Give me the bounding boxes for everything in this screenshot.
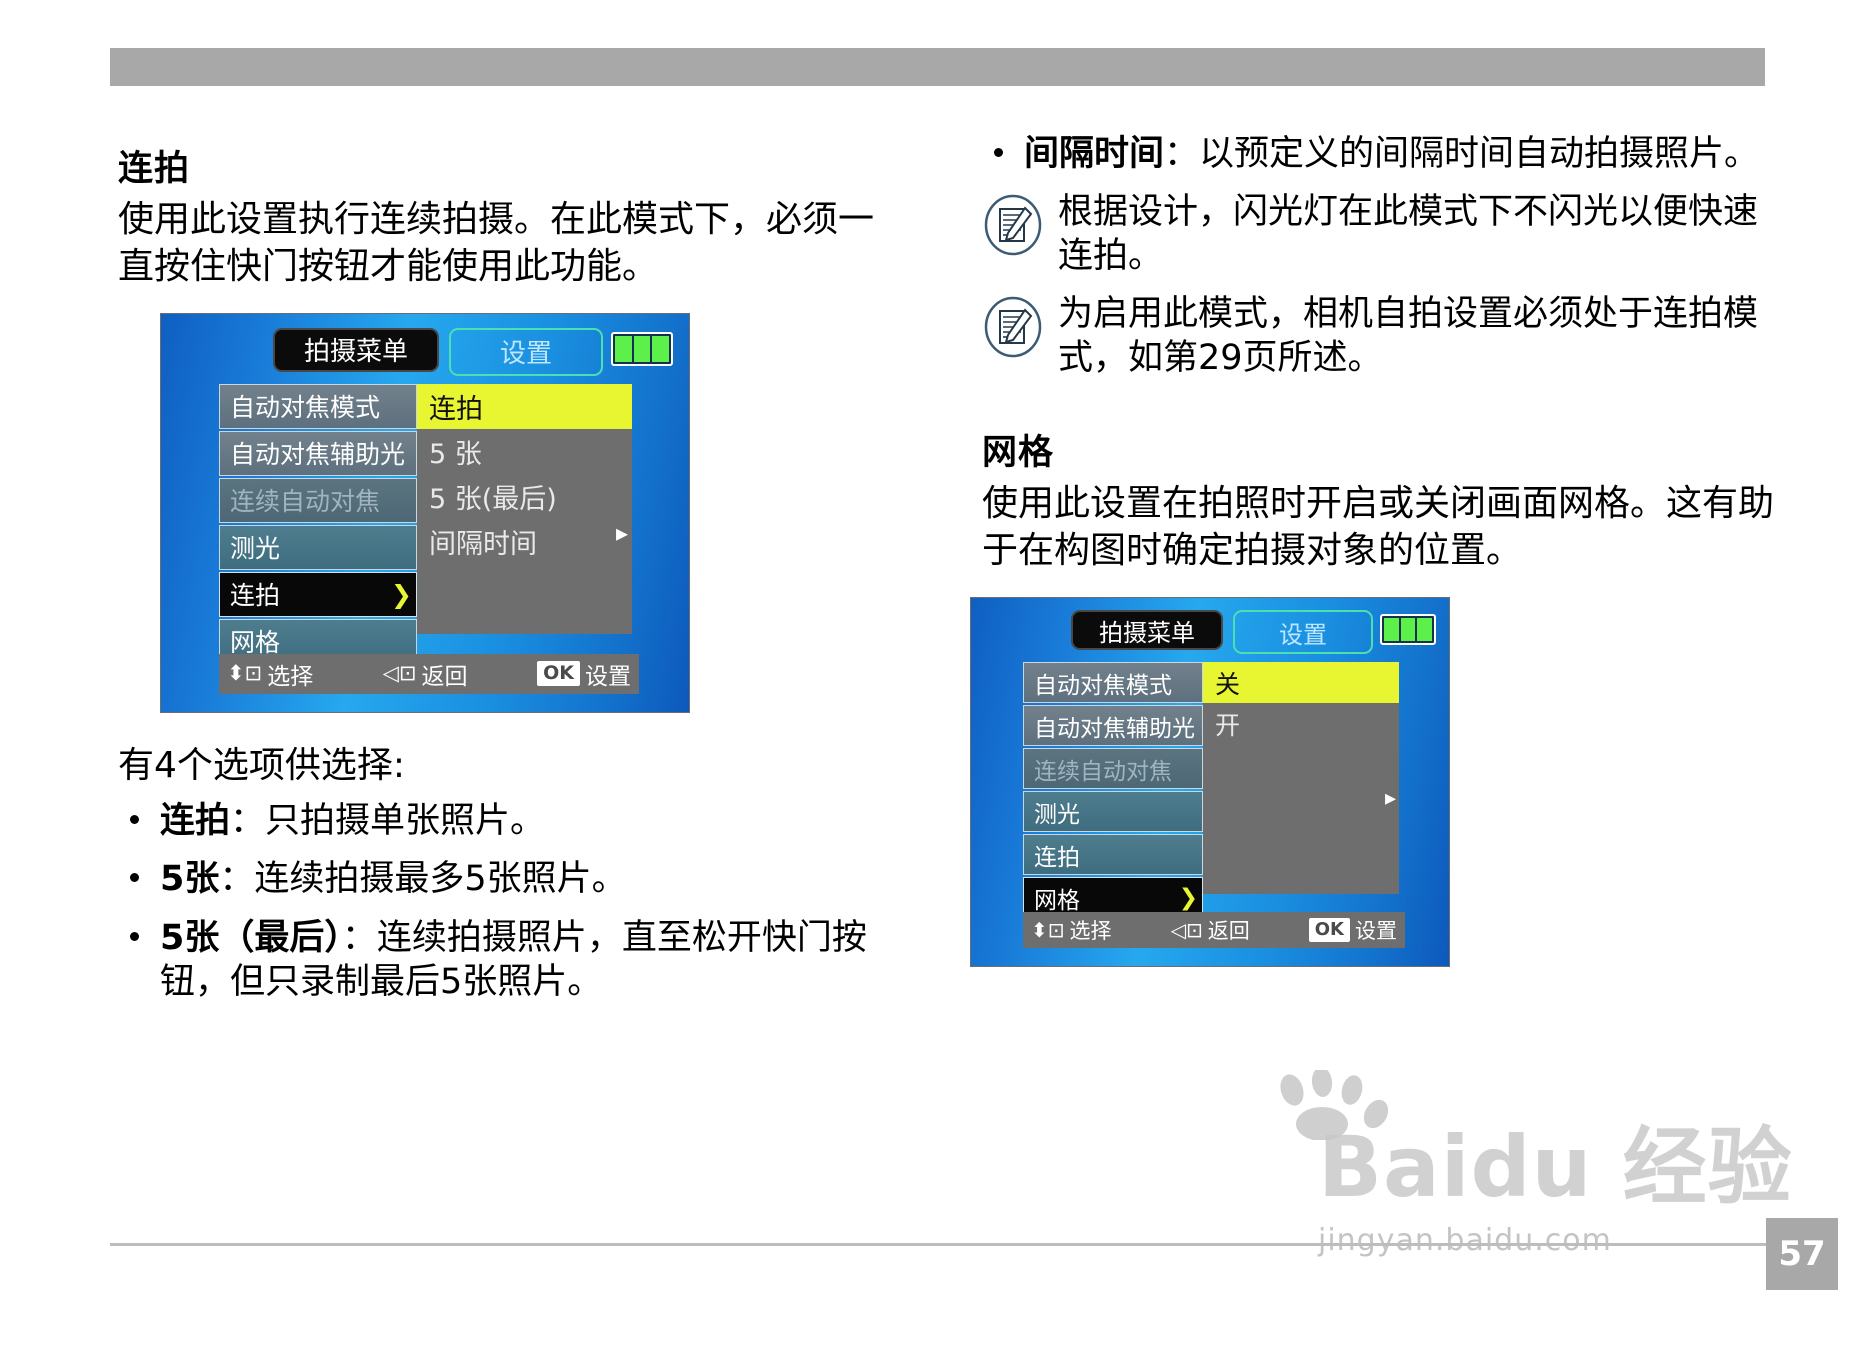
lcd-options-list: 连拍5 张5 张(最后)间隔时间 xyxy=(417,384,632,634)
lcd-option-item[interactable]: 5 张 xyxy=(417,429,632,474)
options-scroll-arrow-icon: ▸ xyxy=(616,519,628,547)
lcd-menu-item-label: 测光 xyxy=(1024,795,1080,829)
left-column: 连拍 使用此设置执行连续拍摄。在此模式下，必须一直按住快门按钮才能使用此功能。 … xyxy=(118,140,908,1018)
watermark: Baidu 经验 jingyan.baidu.com xyxy=(1318,1100,1798,1280)
options-intro: 有4个选项供选择: xyxy=(118,743,908,790)
watermark-main-text: Baidu 经验 xyxy=(1318,1100,1798,1221)
lcd-menu-item-label: 自动对焦模式 xyxy=(1024,666,1172,700)
list-item: 5张：连续拍摄最多5张照片。 xyxy=(118,857,908,901)
note-text: 根据设计，闪光灯在此模式下不闪光以便快速连拍。 xyxy=(1058,190,1782,278)
lcd-tab-setup-label: 设置 xyxy=(500,333,552,370)
options-scroll-arrow-icon: ▸ xyxy=(1385,786,1396,811)
lcd-option-item-label: 5 张(最后) xyxy=(417,477,557,516)
baidu-paw-icon xyxy=(1270,1070,1390,1140)
lcd-footer-hint-label: 选择 xyxy=(267,657,313,691)
page-number: 57 xyxy=(1766,1218,1838,1290)
lcd-footer-hint-label: 返回 xyxy=(1208,915,1250,945)
lcd-menu-item[interactable]: 测光 xyxy=(1023,791,1203,832)
lcd-tab-shooting-menu-label: 拍摄菜单 xyxy=(304,331,408,368)
ok-key-icon: OK xyxy=(1309,918,1350,942)
page-title-burst: 连拍 xyxy=(118,140,908,191)
bullet-dot-icon xyxy=(130,932,139,941)
lcd-footer-hint: ⬍⊡选择 xyxy=(1031,915,1112,945)
burst-options-list: 连拍：只拍摄单张照片。 5张：连续拍摄最多5张照片。 5张（最后）：连续拍摄照片… xyxy=(118,799,908,1003)
note-icon xyxy=(982,194,1044,256)
lcd-option-item-label: 间隔时间 xyxy=(417,522,537,561)
bullet-dot-icon xyxy=(130,873,139,882)
grid-description: 使用此设置在拍照时开启或关闭画面网格。这有助于在构图时确定拍摄对象的位置。 xyxy=(982,481,1782,575)
option-sep: ： xyxy=(230,801,265,841)
option-desc: 以预定义的间隔时间自动拍摄照片。 xyxy=(1199,134,1759,174)
ok-key-icon: OK xyxy=(537,661,580,686)
watermark-sub-text: jingyan.baidu.com xyxy=(1318,1223,1798,1258)
lcd-footer-hint: ◁⊡返回 xyxy=(1171,915,1250,945)
burst-description: 使用此设置执行连续拍摄。在此模式下，必须一直按住快门按钮才能使用此功能。 xyxy=(118,197,908,291)
lcd-screenshot-burst: 拍摄菜单 设置 自动对焦模式自动对焦辅助光连续自动对焦测光连拍❯网格 连拍5 张… xyxy=(160,313,690,713)
option-sep: ： xyxy=(219,859,254,899)
option-desc: 连续拍摄最多5张照片。 xyxy=(254,859,626,899)
lcd-menu-item-label: 自动对焦辅助光 xyxy=(220,435,405,471)
left-key-icon: ◁⊡ xyxy=(1171,920,1203,940)
lcd-footer-hint-label: 设置 xyxy=(585,657,631,691)
lcd-menu-item[interactable]: 连拍❯ xyxy=(219,572,417,617)
lcd-tab-shooting-menu[interactable]: 拍摄菜单 xyxy=(1071,610,1223,650)
selection-caret-icon: ❯ xyxy=(381,580,416,609)
option-term: 5张（最后） xyxy=(160,918,342,958)
lcd-menu-item-label: 网格 xyxy=(1024,881,1080,915)
lcd-footer-hint: ◁⊡返回 xyxy=(383,657,468,691)
lcd-menu-list: 自动对焦模式自动对焦辅助光连续自动对焦测光连拍网格❯ xyxy=(1023,662,1203,920)
bullet-dot-icon xyxy=(994,148,1003,157)
lcd-option-item[interactable]: 开 xyxy=(1203,703,1399,744)
battery-bar xyxy=(652,336,669,362)
battery-icon xyxy=(1380,614,1436,645)
lcd-menu-item-label: 连续自动对焦 xyxy=(1024,752,1172,786)
selection-caret-icon: ❯ xyxy=(1169,885,1202,911)
lcd-menu-item[interactable]: 连续自动对焦 xyxy=(1023,748,1203,789)
option-term: 间隔时间 xyxy=(1024,134,1164,174)
lcd-tab-setup-label: 设置 xyxy=(1279,615,1327,650)
right-column: 间隔时间：以预定义的间隔时间自动拍摄照片。 根据设计，闪光灯在此模式下不闪光以便… xyxy=(982,128,1782,967)
note-icon xyxy=(982,296,1044,358)
footer-divider xyxy=(110,1243,1770,1246)
lcd-tab-setup[interactable]: 设置 xyxy=(449,328,603,376)
battery-bar xyxy=(1384,618,1399,641)
list-item: 间隔时间：以预定义的间隔时间自动拍摄照片。 xyxy=(982,132,1782,176)
lcd-footer-hints: ⬍⊡选择◁⊡返回OK设置 xyxy=(1023,912,1405,948)
lcd-menu-item[interactable]: 测光 xyxy=(219,525,417,570)
lcd-footer-hint: OK设置 xyxy=(1309,915,1397,945)
lcd-footer-hint: OK设置 xyxy=(537,657,631,691)
battery-bar xyxy=(615,336,632,362)
lcd-menu-item-label: 连拍 xyxy=(1024,838,1080,872)
lcd-option-item-label: 5 张 xyxy=(417,432,482,471)
lcd-menu-item[interactable]: 连续自动对焦 xyxy=(219,478,417,523)
up-down-key-icon: ⬍⊡ xyxy=(227,663,262,684)
list-item: 5张（最后）：连续拍摄照片，直至松开快门按钮，但只录制最后5张照片。 xyxy=(118,916,908,1004)
list-item: 连拍：只拍摄单张照片。 xyxy=(118,799,908,843)
lcd-option-item[interactable]: 间隔时间 xyxy=(417,519,632,564)
lcd-footer-hint: ⬍⊡选择 xyxy=(227,657,313,691)
lcd-menu-item[interactable]: 自动对焦模式 xyxy=(219,384,417,429)
lcd-menu-item-label: 自动对焦模式 xyxy=(220,388,380,424)
lcd-footer-hint-label: 设置 xyxy=(1355,915,1397,945)
battery-bar xyxy=(1417,618,1432,641)
note-1: 根据设计，闪光灯在此模式下不闪光以便快速连拍。 xyxy=(982,190,1782,278)
battery-bar xyxy=(1401,618,1416,641)
option-desc: 只拍摄单张照片。 xyxy=(265,801,545,841)
up-down-key-icon: ⬍⊡ xyxy=(1031,920,1065,940)
lcd-option-item[interactable]: 5 张(最后) xyxy=(417,474,632,519)
lcd-option-item[interactable]: 连拍 xyxy=(417,384,632,429)
lcd-menu-item-label: 连拍 xyxy=(220,576,280,612)
interval-bullet-list: 间隔时间：以预定义的间隔时间自动拍摄照片。 xyxy=(982,132,1782,176)
lcd-screenshot-grid: 拍摄菜单 设置 自动对焦模式自动对焦辅助光连续自动对焦测光连拍网格❯ 关开 ▸ … xyxy=(970,597,1450,967)
lcd-menu-item[interactable]: 自动对焦辅助光 xyxy=(219,431,417,476)
lcd-menu-item-label: 连续自动对焦 xyxy=(220,482,380,518)
note-text: 为启用此模式，相机自拍设置必须处于连拍模式，如第29页所述。 xyxy=(1058,292,1782,380)
battery-bar xyxy=(634,336,651,362)
lcd-tab-shooting-menu[interactable]: 拍摄菜单 xyxy=(273,328,439,372)
bullet-dot-icon xyxy=(130,815,139,824)
lcd-option-item-label: 连拍 xyxy=(417,387,483,426)
lcd-menu-item[interactable]: 自动对焦辅助光 xyxy=(1023,705,1203,746)
lcd-menu-item[interactable]: 自动对焦模式 xyxy=(1023,662,1203,703)
lcd-menu-list: 自动对焦模式自动对焦辅助光连续自动对焦测光连拍❯网格 xyxy=(219,384,417,666)
manual-page: 连拍 使用此设置执行连续拍摄。在此模式下，必须一直按住快门按钮才能使用此功能。 … xyxy=(0,0,1871,1361)
note-2: 为启用此模式，相机自拍设置必须处于连拍模式，如第29页所述。 xyxy=(982,292,1782,380)
lcd-option-item[interactable]: 关 xyxy=(1203,662,1399,703)
lcd-menu-item[interactable]: 连拍 xyxy=(1023,834,1203,875)
lcd-footer-hint-label: 返回 xyxy=(422,657,468,691)
lcd-option-item-label: 关 xyxy=(1203,665,1240,701)
lcd-footer-hints: ⬍⊡选择◁⊡返回OK设置 xyxy=(219,654,639,694)
page-title-grid: 网格 xyxy=(982,424,1782,475)
option-sep: ： xyxy=(1164,134,1199,174)
lcd-menu-item-label: 测光 xyxy=(220,529,280,565)
option-term: 5张 xyxy=(160,859,219,899)
page-header-bar xyxy=(110,48,1765,86)
lcd-menu-item-label: 自动对焦辅助光 xyxy=(1024,709,1195,743)
left-key-icon: ◁⊡ xyxy=(383,663,417,684)
lcd-tab-shooting-menu-label: 拍摄菜单 xyxy=(1099,613,1195,648)
lcd-footer-hint-label: 选择 xyxy=(1070,915,1112,945)
lcd-options-list: 关开 xyxy=(1203,662,1399,894)
option-term: 连拍 xyxy=(160,801,230,841)
lcd-tab-setup[interactable]: 设置 xyxy=(1233,610,1373,654)
lcd-option-item-label: 开 xyxy=(1203,706,1240,742)
battery-icon xyxy=(611,332,673,366)
option-sep: ： xyxy=(342,918,377,958)
